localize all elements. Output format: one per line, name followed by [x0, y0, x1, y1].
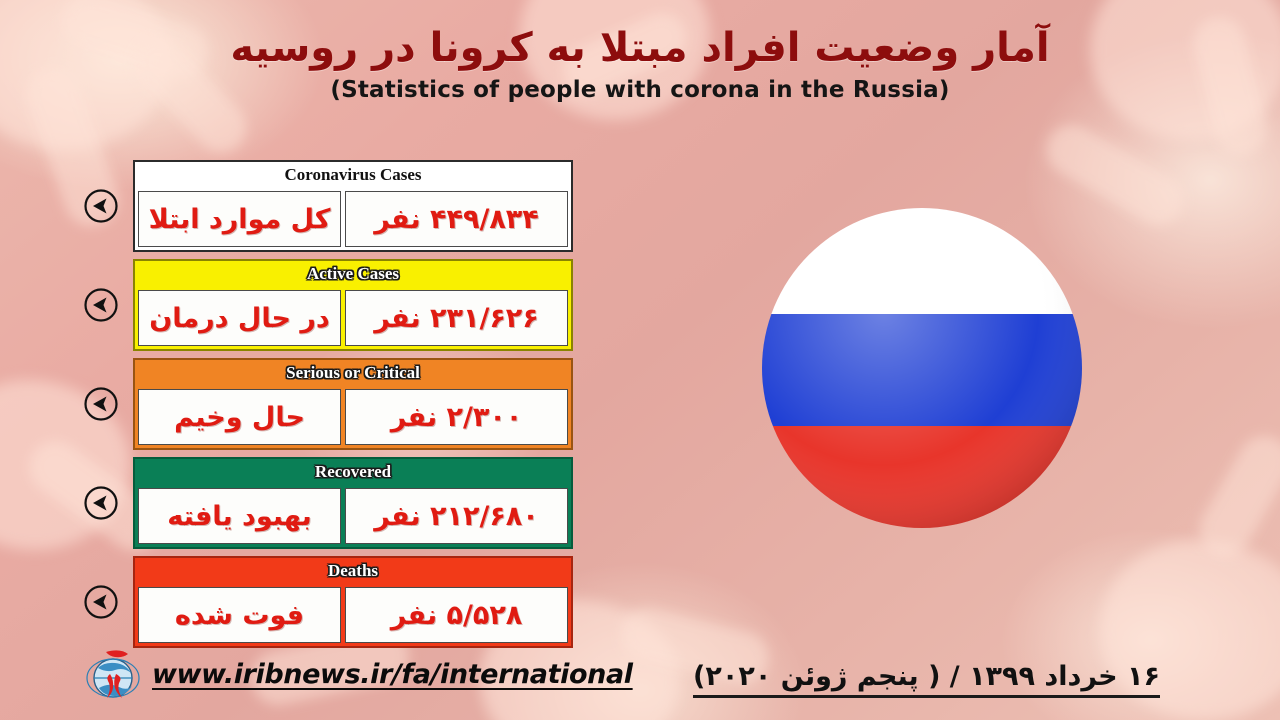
- stat-value-cell: ۲/۳۰۰ نفر: [345, 389, 568, 445]
- stat-header-coronavirus-cases: Coronavirus Cases: [135, 162, 571, 188]
- date-text-fa: ۱۶ خرداد ۱۳۹۹ / ( پنجم ژوئن ۲۰۲۰): [693, 661, 1160, 692]
- stat-body: حال وخیم ۲/۳۰۰ نفر: [135, 386, 571, 448]
- footer-date: ۱۶ خرداد ۱۳۹۹ / ( پنجم ژوئن ۲۰۲۰): [693, 661, 1160, 698]
- stat-label-cell: در حال درمان: [138, 290, 341, 346]
- stat-card-recovered[interactable]: Recovered بهبود یافته ۲۱۲/۶۸۰ نفر: [133, 457, 573, 549]
- stat-value-coronavirus-cases: ۴۴۹/۸۳۴ نفر: [374, 204, 539, 235]
- stat-header-serious-critical: Serious or Critical: [135, 360, 571, 386]
- left-arrow-circle-icon[interactable]: [83, 386, 119, 422]
- stat-card-serious-critical[interactable]: Serious or Critical حال وخیم ۲/۳۰۰ نفر: [133, 358, 573, 450]
- left-arrow-circle-icon[interactable]: [83, 188, 119, 224]
- stat-body: کل موارد ابتلا ۴۴۹/۸۳۴ نفر: [135, 188, 571, 250]
- stat-label-recovered: بهبود یافته: [167, 501, 312, 532]
- stat-value-cell: ۵/۵۲۸ نفر: [345, 587, 568, 643]
- stat-value-recovered: ۲۱۲/۶۸۰ نفر: [374, 501, 539, 532]
- background-virus-stalk: [1190, 427, 1280, 566]
- left-arrow-circle-icon[interactable]: [83, 584, 119, 620]
- stat-value-deaths: ۵/۵۲۸ نفر: [391, 600, 523, 631]
- stat-label-deaths: فوت شده: [175, 600, 304, 631]
- stat-body: بهبود یافته ۲۱۲/۶۸۰ نفر: [135, 485, 571, 547]
- page-subtitle-en: (Statistics of people with corona in the…: [0, 77, 1280, 103]
- stat-value-cell: ۲۱۲/۶۸۰ نفر: [345, 488, 568, 544]
- stat-label-cell: حال وخیم: [138, 389, 341, 445]
- stat-label-serious-critical: حال وخیم: [174, 402, 305, 433]
- infographic-canvas: آمار وضعیت افراد مبتلا به کرونا در روسیه…: [0, 0, 1280, 720]
- left-arrow-circle-icon[interactable]: [83, 485, 119, 521]
- stat-header-recovered: Recovered: [135, 459, 571, 485]
- stat-card-deaths[interactable]: Deaths فوت شده ۵/۵۲۸ نفر: [133, 556, 573, 648]
- stat-label-active-cases: در حال درمان: [149, 303, 330, 334]
- stat-body: در حال درمان ۲۳۱/۶۲۶ نفر: [135, 287, 571, 349]
- stat-body: فوت شده ۵/۵۲۸ نفر: [135, 584, 571, 646]
- stat-label-cell: فوت شده: [138, 587, 341, 643]
- stat-label-coronavirus-cases: کل موارد ابتلا: [149, 204, 331, 235]
- stat-card-coronavirus-cases[interactable]: Coronavirus Cases کل موارد ابتلا ۴۴۹/۸۳۴…: [133, 160, 573, 252]
- stat-value-active-cases: ۲۳۱/۶۲۶ نفر: [374, 303, 539, 334]
- coronavirus-russia-flag-graphic: [672, 118, 1172, 618]
- page-header: آمار وضعیت افراد مبتلا به کرونا در روسیه…: [0, 24, 1280, 103]
- page-title-fa: آمار وضعیت افراد مبتلا به کرونا در روسیه: [0, 24, 1280, 73]
- stat-header-deaths: Deaths: [135, 558, 571, 584]
- stat-label-cell: کل موارد ابتلا: [138, 191, 341, 247]
- website-url[interactable]: www.iribnews.ir/fa/international: [152, 659, 633, 690]
- left-arrow-circle-icon[interactable]: [83, 287, 119, 323]
- stat-card-active-cases[interactable]: Active Cases در حال درمان ۲۳۱/۶۲۶ نفر: [133, 259, 573, 351]
- stat-label-cell: بهبود یافته: [138, 488, 341, 544]
- stat-header-active-cases: Active Cases: [135, 261, 571, 287]
- stat-value-serious-critical: ۲/۳۰۰ نفر: [391, 402, 523, 433]
- stat-value-cell: ۲۳۱/۶۲۶ نفر: [345, 290, 568, 346]
- statistics-list: Coronavirus Cases کل موارد ابتلا ۴۴۹/۸۳۴…: [133, 160, 573, 655]
- date-underline: [693, 695, 1160, 698]
- stat-value-cell: ۴۴۹/۸۳۴ نفر: [345, 191, 568, 247]
- iribnews-globe-logo: [86, 646, 142, 702]
- footer-branding: www.iribnews.ir/fa/international: [86, 646, 633, 702]
